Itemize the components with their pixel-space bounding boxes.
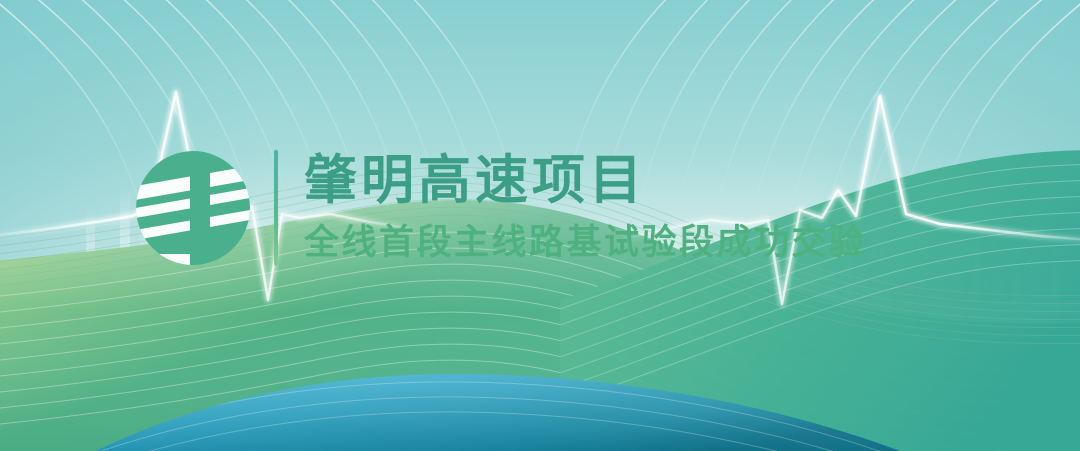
project-banner: 肇明高速项目 全线首段主线路基试验段成功交验 bbox=[0, 0, 1080, 451]
page-subtitle: 全线首段主线路基试验段成功交验 bbox=[304, 224, 867, 263]
brand-lockup: 肇明高速项目 全线首段主线路基试验段成功交验 bbox=[132, 138, 867, 278]
title-divider bbox=[274, 150, 278, 266]
page-title: 肇明高速项目 bbox=[304, 154, 867, 210]
title-text-block: 肇明高速项目 全线首段主线路基试验段成功交验 bbox=[304, 154, 867, 262]
banner-content: 肇明高速项目 全线首段主线路基试验段成功交验 bbox=[0, 0, 1080, 451]
road-circle-logo-icon bbox=[132, 138, 254, 278]
